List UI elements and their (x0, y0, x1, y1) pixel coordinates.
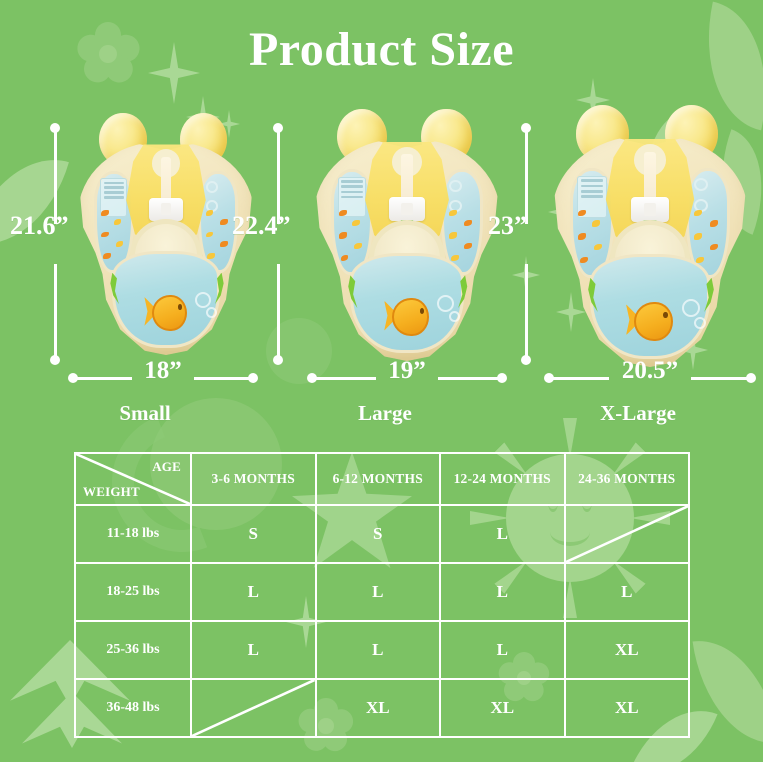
weight-row-label-3: 36-48 lbs (75, 679, 191, 737)
fish-pattern (339, 210, 347, 216)
weight-row-label-2: 25-36 lbs (75, 621, 191, 679)
size-name-large: Large (260, 401, 510, 426)
width-label-xlarge: 20.5” (544, 357, 756, 385)
width-ruler-large: 19” (307, 373, 507, 383)
cell-r0-c0: S (191, 505, 316, 563)
ruler-line (438, 377, 498, 380)
ruler-line (525, 264, 528, 356)
table-corner-header: AGE WEIGHT (75, 453, 191, 505)
table-row: 25-36 lbs L L L XL (75, 621, 689, 679)
column-header-3: 24-36 MONTHS (565, 453, 690, 505)
fish-pattern (101, 210, 109, 216)
weight-axis-label: WEIGHT (83, 484, 140, 500)
fish-pattern (449, 232, 457, 238)
ruler-line (277, 264, 280, 356)
age-axis-label: AGE (152, 459, 181, 475)
leaf-decoration (693, 632, 763, 753)
goldfish-graphic (384, 295, 433, 338)
ruler-dot (273, 355, 283, 365)
product-small: 21.6” (20, 105, 270, 425)
ruler-dot (521, 355, 531, 365)
table-row: 36-48 lbs XL XL XL (75, 679, 689, 737)
cell-r3-c1: XL (316, 679, 441, 737)
product-large: 22.4” (266, 105, 516, 425)
height-label-large: 22.4” (232, 211, 291, 241)
size-name-small: Small (20, 401, 270, 426)
float-buckle (389, 197, 425, 221)
height-label-small: 21.6” (10, 211, 69, 241)
float-tag (449, 180, 462, 193)
size-name-xlarge: X-Large (512, 401, 763, 426)
fish-pattern (339, 232, 347, 238)
column-header-1: 6-12 MONTHS (316, 453, 441, 505)
weight-row-label-0: 11-18 lbs (75, 505, 191, 563)
page-title: Product Size (0, 22, 763, 77)
fish-pattern (354, 243, 362, 249)
cell-r1-c2: L (440, 563, 565, 621)
size-chart-table: AGE WEIGHT 3-6 MONTHS 6-12 MONTHS 12-24 … (74, 452, 690, 738)
float-buckle (631, 197, 669, 222)
goldfish-graphic (144, 292, 191, 333)
table-row: 11-18 lbs S S L (75, 505, 689, 563)
bubble-decoration (682, 299, 700, 317)
table-row: 18-25 lbs L L L L (75, 563, 689, 621)
width-ruler-xlarge: 20.5” (544, 373, 756, 383)
fish-pattern (449, 210, 457, 216)
bubble-decoration (206, 307, 217, 318)
cell-r1-c0: L (191, 563, 316, 621)
ruler-dot (50, 355, 60, 365)
width-label-large: 19” (307, 357, 507, 385)
float-tag (206, 181, 219, 193)
bubble-decoration (195, 292, 211, 308)
bubble-decoration (449, 311, 460, 322)
height-label-xlarge: 23” (488, 211, 527, 241)
cell-r2-c2: L (440, 621, 565, 679)
ruler-dot (497, 373, 507, 383)
ruler-line (194, 377, 249, 380)
fish-pattern (464, 243, 472, 249)
height-ruler-large (273, 123, 283, 365)
baby-swim-float-icon (550, 105, 750, 367)
ruler-line (691, 377, 747, 380)
ruler-dot (248, 373, 258, 383)
product-size-infographic: Product Size 21.6” (0, 0, 763, 762)
cell-r3-c3: XL (565, 679, 690, 737)
cell-r3-c0-empty (191, 679, 316, 737)
cell-r0-c3-empty (565, 505, 690, 563)
cell-r2-c0: L (191, 621, 316, 679)
column-header-2: 12-24 MONTHS (440, 453, 565, 505)
baby-swim-float-icon (312, 109, 502, 361)
diagonal-strike-icon (566, 506, 689, 562)
baby-swim-float-icon (76, 113, 256, 355)
cell-r0-c1: S (316, 505, 441, 563)
height-ruler-small (50, 123, 60, 365)
cell-r1-c3: L (565, 563, 690, 621)
float-buckle (149, 198, 183, 221)
weight-row-label-1: 18-25 lbs (75, 563, 191, 621)
product-row: 21.6” (0, 105, 763, 425)
product-xlarge: 23” (508, 105, 760, 425)
ruler-dot (746, 373, 756, 383)
table-header-row: AGE WEIGHT 3-6 MONTHS 6-12 MONTHS 12-24 … (75, 453, 689, 505)
cell-r1-c1: L (316, 563, 441, 621)
width-ruler-small: 18” (68, 373, 258, 383)
goldfish-graphic (626, 299, 678, 344)
cell-r2-c1: L (316, 621, 441, 679)
diagonal-strike-icon (192, 680, 315, 736)
column-header-0: 3-6 MONTHS (191, 453, 316, 505)
cell-r2-c3: XL (565, 621, 690, 679)
cell-r3-c2: XL (440, 679, 565, 737)
cell-r0-c2: L (440, 505, 565, 563)
height-ruler-xlarge (521, 123, 531, 365)
ruler-line (54, 264, 57, 356)
width-label-small: 18” (68, 357, 258, 385)
